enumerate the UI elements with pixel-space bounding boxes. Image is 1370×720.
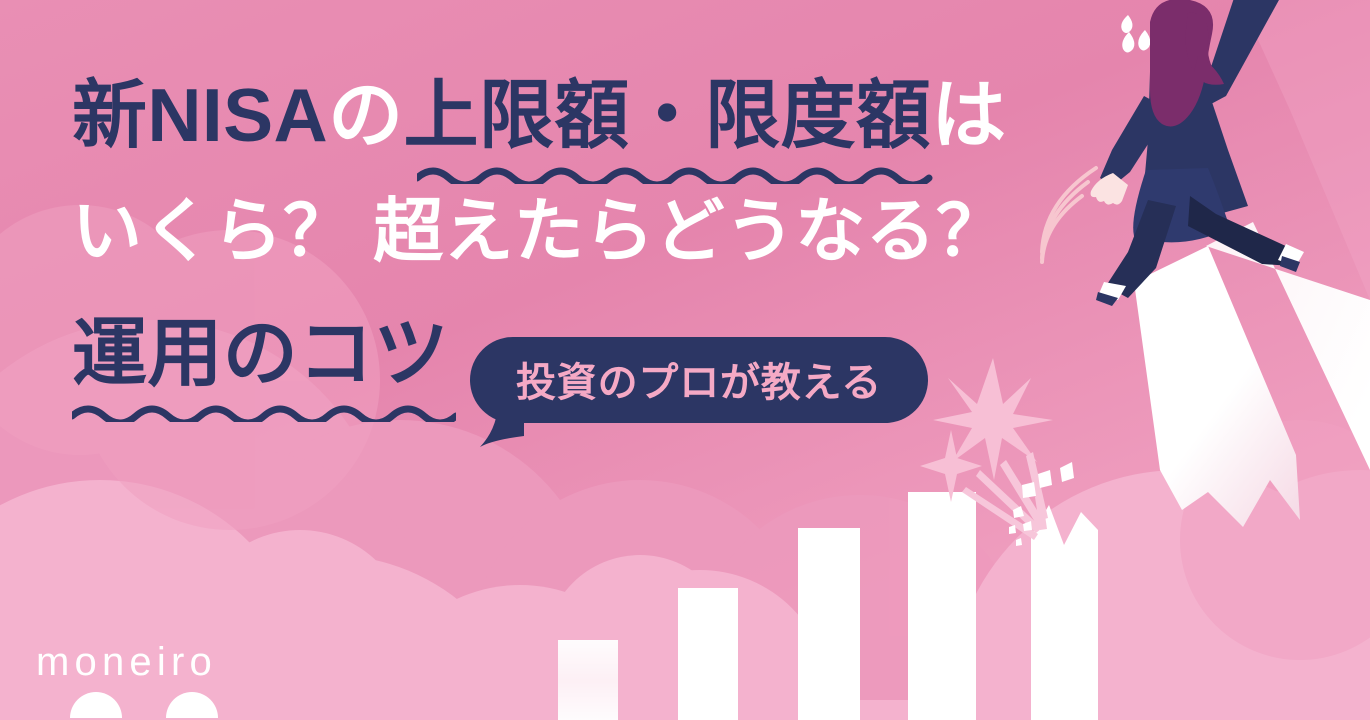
status-badge-label: 投資のプロが教える (516, 350, 882, 408)
headline-line-1: 新NISAの上限額・限度額は (72, 78, 972, 178)
wavy-underline-2 (72, 402, 456, 422)
headline-seg-3a: 運用のコツ (72, 311, 449, 395)
logo-wordmark: moneiro (36, 642, 217, 682)
logo-dome-right-icon (166, 692, 218, 718)
headline-seg-1b: の (328, 73, 403, 157)
headline-seg-1a: 新NISA (72, 73, 328, 157)
status-badge: 投資のプロが教える (470, 337, 928, 423)
headline-seg-2a: いくら？ 超えたらどうなる？ (72, 192, 1006, 270)
bar-2 (678, 588, 738, 720)
bar-1 (558, 640, 618, 720)
wavy-underline-1 (417, 164, 933, 184)
headline-seg-1d: は (931, 73, 1006, 157)
logo[interactable]: moneiro (36, 642, 216, 716)
hero-banner: 新NISAの上限額・限度額は いくら？ 超えたらどうなる？ 運用のコツ 投資のプ… (0, 0, 1370, 720)
headline-seg-1c: 上限額・限度額 (403, 73, 931, 157)
bar-3 (798, 528, 860, 720)
bar-4 (908, 492, 976, 720)
headline-line-2: いくら？ 超えたらどうなる？ (72, 196, 972, 306)
logo-dome-left-icon (70, 692, 122, 718)
